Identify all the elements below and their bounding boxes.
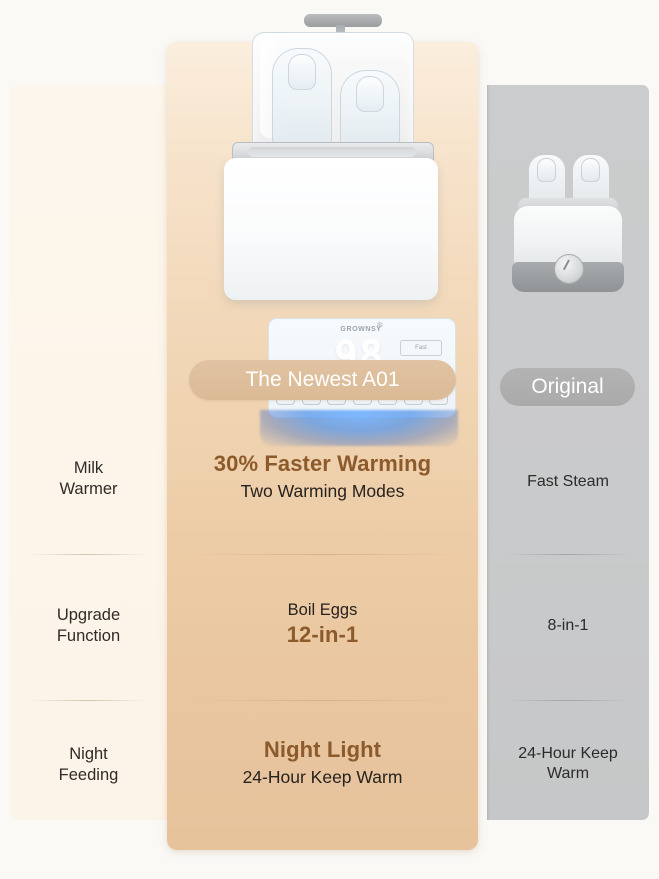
new-headline-row1: 30% Faster Warming	[167, 450, 478, 478]
fast-mode-label: Fast	[400, 340, 442, 356]
rotary-dial-knob[interactable]	[554, 254, 584, 284]
row-divider-right-1	[505, 554, 631, 555]
new-sub-row2: Boil Eggs	[167, 600, 478, 621]
row-divider-left-1	[28, 554, 148, 555]
night-light-glow	[260, 410, 458, 446]
feature-label-upgrade-function: Upgrade Function	[10, 605, 167, 647]
new-sub-row1: Two Warming Modes	[167, 480, 478, 502]
feature-label-night-feeding: Night Feeding	[10, 744, 167, 786]
original-nipple-left-icon	[537, 158, 556, 182]
row-divider-left-2	[28, 700, 148, 701]
row-divider-center-1	[190, 554, 455, 555]
row-divider-center-2	[190, 700, 455, 701]
original-cell-milk-warmer: Fast Steam	[487, 472, 649, 492]
new-cell-upgrade-function: Boil Eggs 12-in-1	[167, 600, 478, 649]
feature-column-panel	[10, 85, 167, 820]
original-nipple-right-icon	[581, 158, 600, 182]
original-product-image	[502, 150, 634, 310]
warmer-body: ❄ GROWNSY °F °C 98 Fast ▦ ◎ + ⏻ − ☀ ⚙	[224, 158, 438, 300]
new-headline-row3: Night Light	[167, 736, 478, 764]
new-product-image: ❄ GROWNSY °F °C 98 Fast ▦ ◎ + ⏻ − ☀ ⚙	[196, 12, 454, 322]
brand-logo: GROWNSY	[324, 326, 398, 333]
comparison-infographic: ❄ GROWNSY °F °C 98 Fast ▦ ◎ + ⏻ − ☀ ⚙	[0, 0, 659, 879]
new-product-badge: The Newest A01	[189, 360, 456, 400]
original-cell-night-feeding: 24-Hour Keep Warm	[487, 744, 649, 785]
bottle-nipple-right-icon	[356, 76, 384, 112]
new-sub-row3: 24-Hour Keep Warm	[167, 766, 478, 788]
new-cell-night-feeding: Night Light 24-Hour Keep Warm	[167, 736, 478, 789]
bottle-nipple-left-icon	[288, 54, 316, 90]
original-cell-upgrade-function: 8-in-1	[487, 616, 649, 636]
original-product-badge: Original	[500, 368, 635, 406]
row-divider-right-2	[505, 700, 631, 701]
warming-tray-slot	[248, 147, 416, 157]
new-headline-row2: 12-in-1	[167, 621, 478, 649]
feature-label-milk-warmer: Milk Warmer	[10, 458, 167, 500]
new-cell-milk-warmer: 30% Faster Warming Two Warming Modes	[167, 450, 478, 503]
